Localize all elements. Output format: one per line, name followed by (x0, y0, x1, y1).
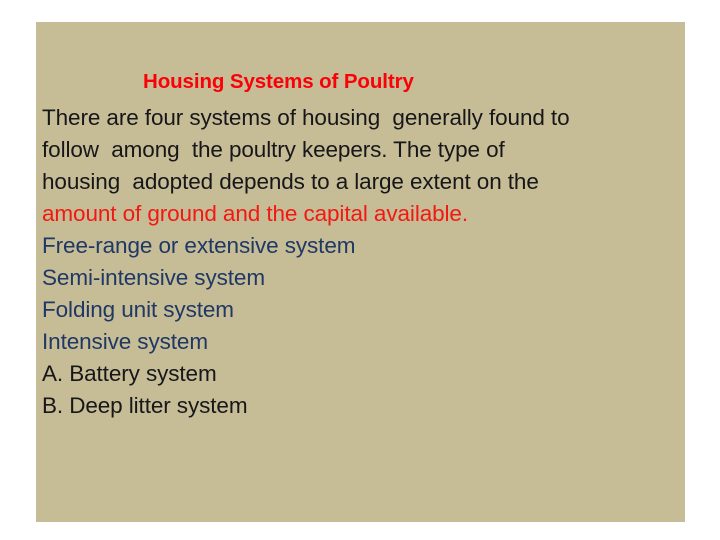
list-item-intensive: Intensive system (42, 331, 208, 354)
slide-title: Housing Systems of Poultry (143, 72, 414, 93)
paragraph-line-2: follow among the poultry keepers. The ty… (42, 139, 505, 162)
paragraph-line-3: housing adopted depends to a large exten… (42, 171, 539, 194)
slide-canvas: Housing Systems of Poultry There are fou… (0, 0, 720, 540)
paragraph-line-1: There are four systems of housing genera… (42, 107, 570, 130)
sub-item-deep-litter-system: B. Deep litter system (42, 395, 247, 418)
paragraph-line-4-emphasis: amount of ground and the capital availab… (42, 203, 468, 226)
slide-content-panel: Housing Systems of Poultry There are fou… (36, 22, 685, 522)
list-item-folding-unit: Folding unit system (42, 299, 234, 322)
list-item-semi-intensive: Semi-intensive system (42, 267, 265, 290)
list-item-free-range: Free-range or extensive system (42, 235, 355, 258)
sub-item-battery-system: A. Battery system (42, 363, 217, 386)
